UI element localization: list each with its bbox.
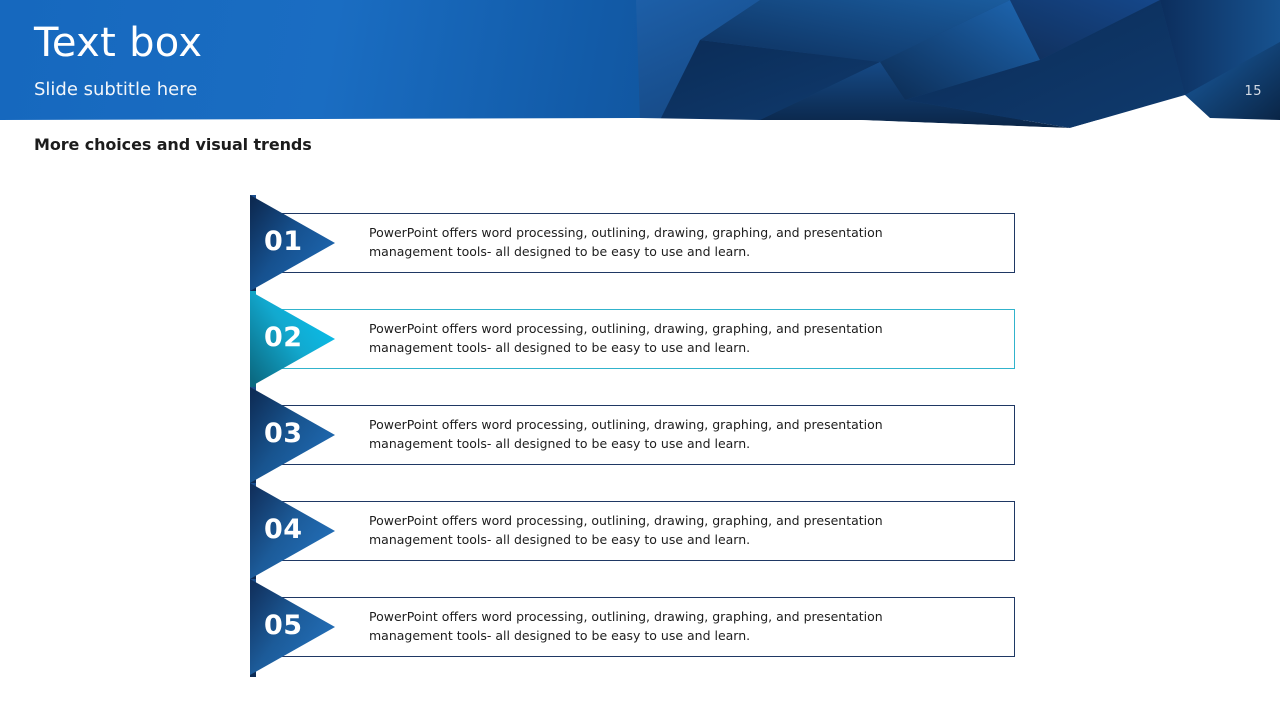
slide-title: Text box [34,20,202,66]
numbered-list: 01 PowerPoint offers word processing, ou… [250,195,1020,677]
row-number: 05 [264,609,314,643]
list-item[interactable]: 05 PowerPoint offers word processing, ou… [250,579,1020,675]
row-description: PowerPoint offers word processing, outli… [369,319,969,357]
list-item[interactable]: 03 PowerPoint offers word processing, ou… [250,387,1020,483]
row-description: PowerPoint offers word processing, outli… [369,223,969,261]
row-description: PowerPoint offers word processing, outli… [369,607,969,645]
row-description: PowerPoint offers word processing, outli… [369,415,969,453]
slide-subtitle: Slide subtitle here [34,78,197,102]
section-heading: More choices and visual trends [34,134,312,156]
slide-canvas: Text box Slide subtitle here 15 More cho… [0,0,1280,720]
row-number: 01 [264,225,314,259]
list-item[interactable]: 02 PowerPoint offers word processing, ou… [250,291,1020,387]
row-number: 04 [264,513,314,547]
list-item[interactable]: 04 PowerPoint offers word processing, ou… [250,483,1020,579]
page-number: 15 [1244,84,1262,99]
row-description: PowerPoint offers word processing, outli… [369,511,969,549]
slide-header: Text box Slide subtitle here 15 [0,0,1280,130]
row-number: 03 [264,417,314,451]
row-number: 02 [264,321,314,355]
list-item[interactable]: 01 PowerPoint offers word processing, ou… [250,195,1020,291]
